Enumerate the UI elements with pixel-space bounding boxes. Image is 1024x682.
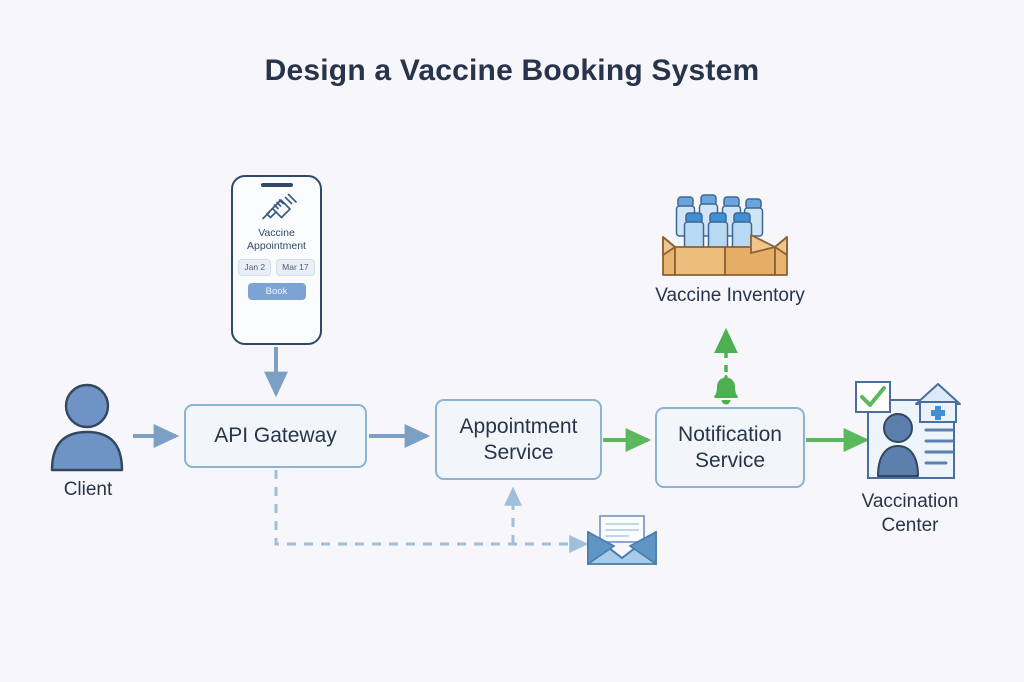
phone-app-title-line2: Appointment: [247, 240, 306, 252]
edge-api-gateway-callback-path: [276, 470, 586, 544]
book-button[interactable]: Book: [248, 283, 306, 300]
phone-date-chips: Jan 2 Mar 17: [238, 259, 314, 276]
client-label: Client: [18, 478, 158, 502]
vaccine-inventory-label: Vaccine Inventory: [620, 284, 840, 308]
vaccination-center-label-line1: Vaccination: [862, 491, 959, 512]
phone-app-title-line1: Vaccine: [258, 227, 295, 239]
appointment-service-label: Appointment Service: [460, 414, 578, 465]
notification-service-label-line1: Notification: [678, 423, 782, 446]
clinic-icon: [850, 378, 974, 480]
appointment-service-label-line2: Service: [483, 441, 553, 464]
phone-app-title: Vaccine Appointment: [235, 227, 319, 253]
vaccination-center-label-line2: Center: [881, 515, 938, 536]
vaccination-center-label: Vaccination Center: [820, 490, 1000, 539]
notification-service-node[interactable]: Notification Service: [655, 407, 805, 488]
api-gateway-node[interactable]: API Gateway: [184, 404, 367, 468]
user-icon: [46, 382, 128, 472]
date-chip[interactable]: Jan 2: [238, 259, 271, 276]
envelope-icon: [584, 514, 660, 566]
vaccine-box-icon: [653, 183, 803, 279]
diagram-canvas: Design a Vaccine Booking System: [0, 0, 1024, 682]
phone-screen: Vaccine Appointment Jan 2 Mar 17 Book: [233, 191, 320, 300]
date-chip[interactable]: Mar 17: [276, 259, 314, 276]
phone-speaker-notch: [261, 183, 293, 187]
mobile-phone-icon[interactable]: Vaccine Appointment Jan 2 Mar 17 Book: [231, 175, 322, 345]
appointment-service-label-line1: Appointment: [460, 415, 578, 438]
appointment-service-node[interactable]: Appointment Service: [435, 399, 602, 480]
bell-icon: [706, 372, 746, 406]
notification-service-label: Notification Service: [678, 422, 782, 473]
connector-layer: [0, 0, 1024, 682]
syringe-icon: [255, 191, 299, 225]
notification-service-label-line2: Service: [695, 449, 765, 472]
api-gateway-label: API Gateway: [214, 423, 337, 449]
